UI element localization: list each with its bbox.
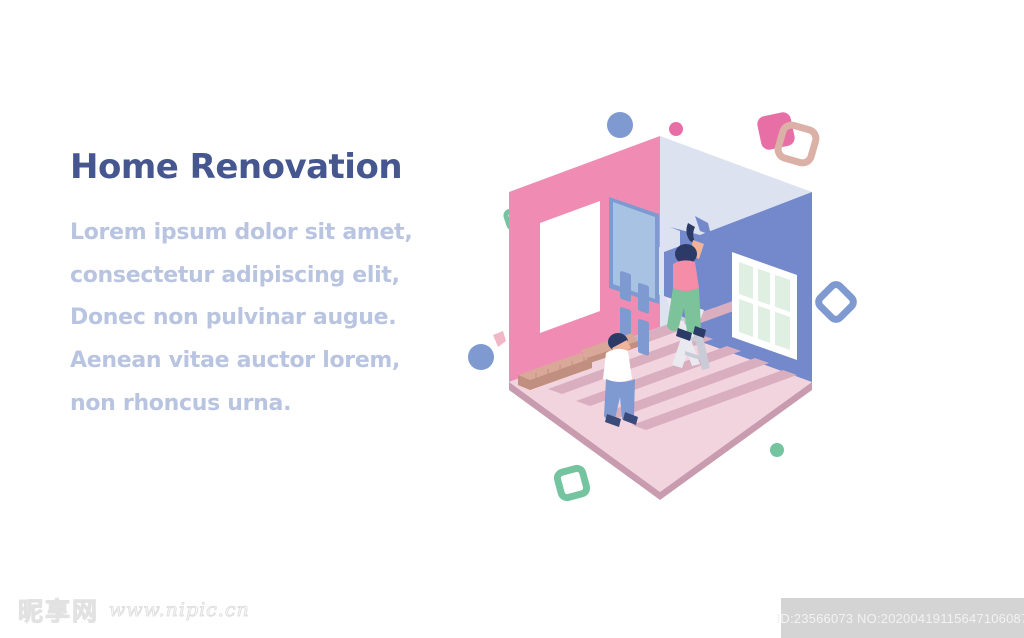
deco-diamond-blue-outline <box>816 282 856 322</box>
body-line-1: Lorem ipsum dolor sit amet, <box>70 212 450 255</box>
painter-torso <box>673 260 699 291</box>
deco-circle-blue-left <box>468 344 494 370</box>
home-renovation-illustration <box>452 92 922 552</box>
image-id-bar: ID:23566073 NO:20200419115647106087 <box>781 598 1024 638</box>
watermark-logo-text: 昵享网 <box>18 592 99 628</box>
deco-circle-blue-top <box>607 112 633 138</box>
deco-dot-green-bottom <box>770 443 784 457</box>
body-line-3: Donec non pulvinar augue. <box>70 297 450 340</box>
body-copy: Lorem ipsum dolor sit amet, consectetur … <box>70 212 450 426</box>
body-line-5: non rhoncus urna. <box>70 383 450 426</box>
image-id-text: ID:23566073 NO:20200419115647106087 <box>777 611 1024 626</box>
watermark-url: www.nipic.cn <box>109 599 250 621</box>
body-line-2: consectetur adipiscing elit, <box>70 255 450 298</box>
text-panel: Home Renovation Lorem ipsum dolor sit am… <box>70 150 450 426</box>
deco-square-green-outline-bottom <box>556 467 588 499</box>
worker-shirt <box>603 349 632 382</box>
doorway-opening <box>540 201 600 333</box>
deco-square-tan-outline <box>776 123 818 165</box>
site-watermark: 昵享网 www.nipic.cn <box>18 592 250 628</box>
page-title: Home Renovation <box>70 150 450 186</box>
body-line-4: Aenean vitae auctor lorem, <box>70 340 450 383</box>
deco-dot-pink-left <box>493 331 506 347</box>
deco-dot-pink-top <box>669 122 683 136</box>
isometric-room <box>509 136 812 500</box>
page-root: Home Renovation Lorem ipsum dolor sit am… <box>0 0 1024 638</box>
